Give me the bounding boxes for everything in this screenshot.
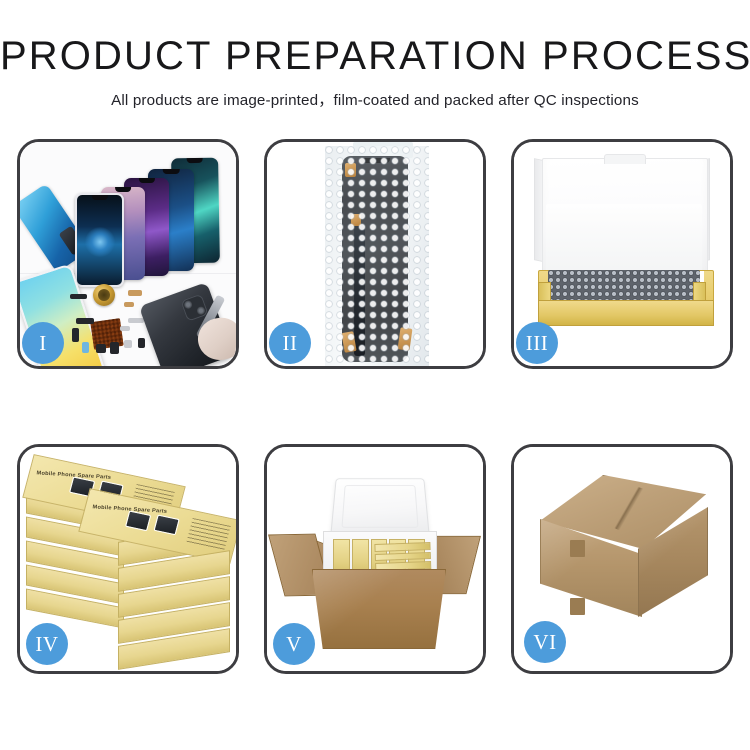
foam-sheet: [546, 204, 702, 276]
step-card-3: III: [511, 139, 733, 369]
chip-component: [76, 318, 94, 324]
phone-screen-1: [75, 193, 124, 287]
yellow-box: [374, 542, 430, 551]
box-window: [154, 515, 180, 536]
process-steps-grid: I II: [0, 139, 750, 699]
page-title: PRODUCT PREPARATION PROCESS: [0, 34, 750, 79]
chip-component: [124, 340, 132, 348]
chip-component: [128, 318, 144, 323]
step-card-4: Mobile Phone Spare Parts Mobile Phone Sp…: [17, 444, 239, 674]
chip-component: [120, 326, 130, 331]
bubble-wrap-bag: [325, 146, 429, 366]
chip-component: [138, 338, 145, 348]
box-front-panel: [538, 300, 714, 326]
chip-component: [82, 342, 89, 353]
step-badge-4: IV: [26, 623, 68, 665]
step-card-6: VI: [511, 444, 733, 674]
carton-tape-tab: [570, 598, 585, 615]
step-card-1: I: [17, 139, 239, 369]
step-badge-1: I: [22, 322, 64, 364]
chip-component: [70, 294, 87, 299]
box-window: [125, 510, 151, 531]
product-preparation-infographic: PRODUCT PREPARATION PROCESS All products…: [0, 0, 750, 750]
step-badge-6: VI: [524, 621, 566, 663]
step-badge-5: V: [273, 623, 315, 665]
chip-component: [72, 328, 79, 342]
yellow-box: [375, 552, 431, 561]
chip-component: [124, 302, 134, 307]
chip-component: [128, 290, 142, 296]
carton-body: [312, 569, 446, 649]
speaker-component: [93, 284, 115, 306]
gray-bubble-padding: [548, 270, 700, 300]
step-card-5: V: [264, 444, 486, 674]
bubble-texture: [325, 146, 429, 366]
carton-tape-tab: [570, 540, 585, 557]
chip-component: [96, 344, 106, 353]
step-badge-3: III: [516, 322, 558, 364]
box-print-lines: [186, 518, 230, 551]
step-badge-2: II: [269, 322, 311, 364]
step-card-2: II: [264, 139, 486, 369]
chip-component: [110, 342, 119, 354]
page-subtitle: All products are image-printed，film-coat…: [0, 88, 750, 110]
header: PRODUCT PREPARATION PROCESS All products…: [0, 34, 750, 110]
